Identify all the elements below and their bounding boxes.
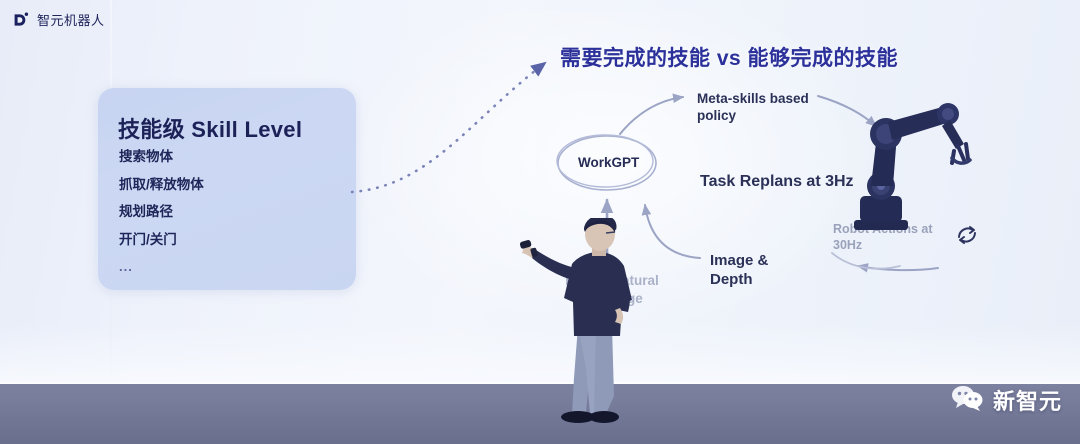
skill-card-list: 搜索物体 抓取/释放物体 规划路径 开门/关门 ... — [119, 150, 339, 287]
meta-skills-policy-label: Meta-skills based policy — [697, 90, 809, 125]
watermark-text: 新智元 — [993, 384, 1062, 416]
workgpt-node-label: WorkGPT — [578, 154, 639, 171]
list-item-ellipsis: ... — [119, 260, 339, 273]
list-item: 开门/关门 — [119, 233, 339, 247]
task-replans-label: Task Replans at 3Hz — [700, 172, 854, 192]
presentation-photo: 智元机器人 技能级 Skill Level 搜索物体 抓取/释放物体 规划路径 … — [0, 0, 1080, 444]
skill-level-card: 技能级 Skill Level 搜索物体 抓取/释放物体 规划路径 开门/关门 … — [98, 88, 356, 290]
watermark: 新智元 — [951, 384, 1062, 416]
robot-actions-label: Robot Actions at 30Hz — [833, 221, 933, 254]
list-item: 搜索物体 — [119, 150, 339, 164]
brand-logo: 智元机器人 — [12, 10, 105, 29]
skill-card-title: 技能级 Skill Level — [118, 112, 302, 144]
presenter-person-icon — [520, 218, 680, 444]
zhiyuan-d-logo-icon — [12, 11, 30, 29]
list-item: 抓取/释放物体 — [119, 178, 339, 192]
image-depth-label: Image & Depth — [710, 251, 768, 289]
slide-title: 需要完成的技能 vs 能够完成的技能 — [560, 42, 898, 72]
brand-name: 智元机器人 — [37, 10, 105, 29]
wechat-bubbles-icon — [951, 385, 985, 416]
list-item: 规划路径 — [119, 205, 339, 219]
